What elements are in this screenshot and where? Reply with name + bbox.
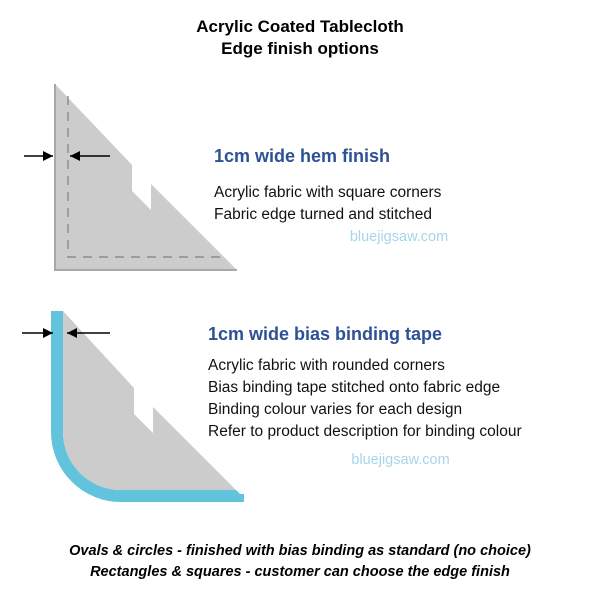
section-body-hem-finish: Acrylic fabric with square corners Fabri… — [214, 182, 584, 248]
footer-line-1: Ovals & circles - finished with bias bin… — [0, 541, 600, 562]
hem-width-arrow-left — [24, 151, 53, 161]
section-heading-bias-binding: 1cm wide bias binding tape — [208, 324, 442, 345]
hem-finish-line-2: Fabric edge turned and stitched — [214, 204, 584, 226]
fabric-outer-edge-square — [55, 84, 237, 270]
watermark-hem-finish: bluejigsaw.com — [214, 226, 584, 248]
watermark-bias-binding: bluejigsaw.com — [208, 449, 593, 471]
footer-note: Ovals & circles - finished with bias bin… — [0, 541, 600, 583]
square-corner-hem-diagram — [0, 0, 600, 600]
hem-stitch-dashed-line — [68, 96, 224, 257]
footer-line-2: Rectangles & squares - customer can choo… — [0, 562, 600, 583]
page-title: Acrylic Coated Tablecloth Edge finish op… — [0, 16, 600, 60]
bias-binding-line-1: Acrylic fabric with rounded corners — [208, 355, 593, 377]
hem-width-arrow-right — [70, 151, 110, 161]
hem-finish-line-1: Acrylic fabric with square corners — [214, 182, 584, 204]
page-title-line-1: Acrylic Coated Tablecloth — [0, 16, 600, 38]
binding-width-arrow-right — [67, 328, 110, 338]
page-title-line-2: Edge finish options — [0, 38, 600, 60]
section-body-bias-binding: Acrylic fabric with rounded corners Bias… — [208, 355, 593, 471]
bias-binding-line-4: Refer to product description for binding… — [208, 421, 593, 443]
bias-binding-line-3: Binding colour varies for each design — [208, 399, 593, 421]
rounded-corner-bias-binding-diagram — [0, 0, 600, 600]
binding-width-arrow-left — [22, 328, 53, 338]
bias-binding-line-2: Bias binding tape stitched onto fabric e… — [208, 377, 593, 399]
infographic-canvas: Acrylic Coated Tablecloth Edge finish op… — [0, 0, 600, 600]
fabric-body-square-corner — [55, 84, 237, 270]
section-heading-hem-finish: 1cm wide hem finish — [214, 146, 390, 167]
